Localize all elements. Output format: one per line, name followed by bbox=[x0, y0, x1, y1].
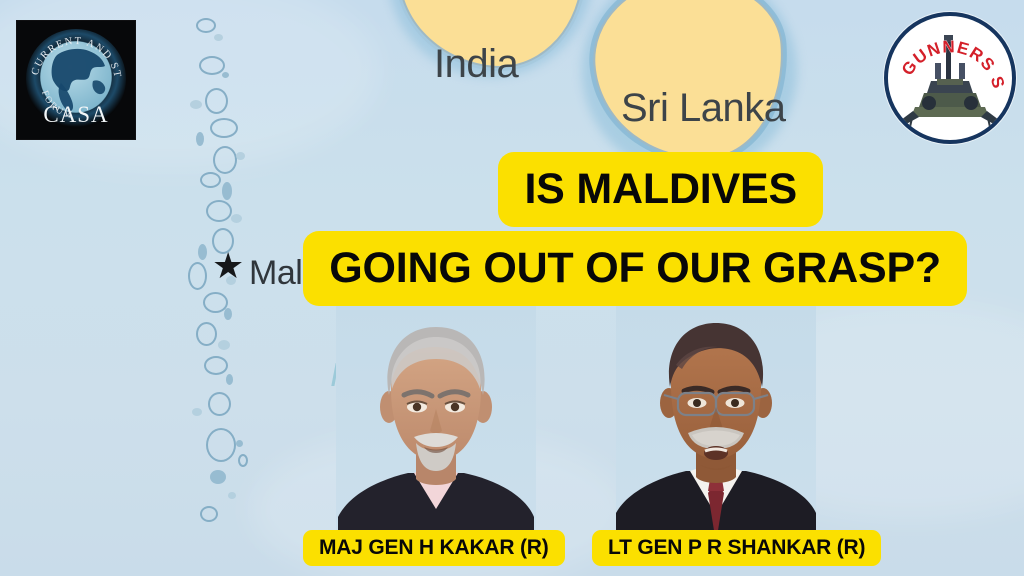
atoll bbox=[206, 200, 232, 222]
atoll bbox=[236, 440, 243, 447]
atoll bbox=[208, 392, 231, 416]
atoll bbox=[205, 88, 228, 114]
atoll bbox=[222, 182, 232, 200]
atoll bbox=[196, 18, 216, 33]
gunners-shot-logo-graphic: GUNNERS SHOT bbox=[891, 19, 1009, 137]
shankar-photo bbox=[616, 303, 816, 543]
atoll bbox=[228, 492, 236, 499]
atoll bbox=[231, 214, 242, 223]
kakar-photo bbox=[336, 303, 536, 543]
atoll bbox=[199, 56, 225, 75]
atoll bbox=[190, 100, 202, 109]
speaker-portrait-kakar bbox=[336, 303, 536, 543]
svg-text:CASA: CASA bbox=[43, 102, 108, 127]
atoll bbox=[222, 72, 229, 78]
atoll bbox=[210, 470, 226, 484]
atoll bbox=[238, 454, 248, 467]
nameplate-shankar: LT GEN P R SHANKAR (R) bbox=[592, 530, 881, 566]
atoll bbox=[236, 152, 245, 160]
atoll bbox=[206, 428, 236, 462]
atoll bbox=[196, 132, 204, 146]
atoll bbox=[213, 146, 237, 174]
atoll bbox=[200, 172, 221, 188]
speaker-portrait-shankar bbox=[616, 303, 816, 543]
headline: IS MALDIVES GOING OUT OF OUR GRASP? bbox=[335, 152, 995, 306]
map-label-india: India bbox=[434, 42, 518, 87]
capital-star-icon: ★ bbox=[212, 248, 244, 284]
atoll bbox=[214, 34, 223, 41]
atoll bbox=[192, 408, 202, 416]
atoll bbox=[224, 308, 232, 320]
thumbnail-canvas: India Sri Lanka Indian Ocean ★ Malé bbox=[0, 0, 1024, 576]
atoll bbox=[200, 506, 218, 522]
casa-logo-graphic: CURRENT AND STRATEGIC AFFAIRS FORUM CASA bbox=[17, 21, 135, 139]
atoll bbox=[198, 244, 207, 260]
atoll bbox=[188, 262, 207, 290]
headline-line-1: IS MALDIVES bbox=[498, 152, 823, 227]
gunners-shot-logo[interactable]: GUNNERS SHOT bbox=[884, 12, 1016, 144]
casa-logo[interactable]: CURRENT AND STRATEGIC AFFAIRS FORUM CASA bbox=[16, 20, 136, 140]
atoll bbox=[204, 356, 228, 375]
headline-line-2: GOING OUT OF OUR GRASP? bbox=[303, 231, 967, 306]
map-label-sri-lanka: Sri Lanka bbox=[621, 86, 785, 131]
atoll bbox=[218, 340, 230, 350]
atoll bbox=[196, 322, 217, 346]
nameplate-kakar: MAJ GEN H KAKAR (R) bbox=[303, 530, 565, 566]
atoll bbox=[226, 374, 233, 385]
atoll bbox=[210, 118, 238, 138]
